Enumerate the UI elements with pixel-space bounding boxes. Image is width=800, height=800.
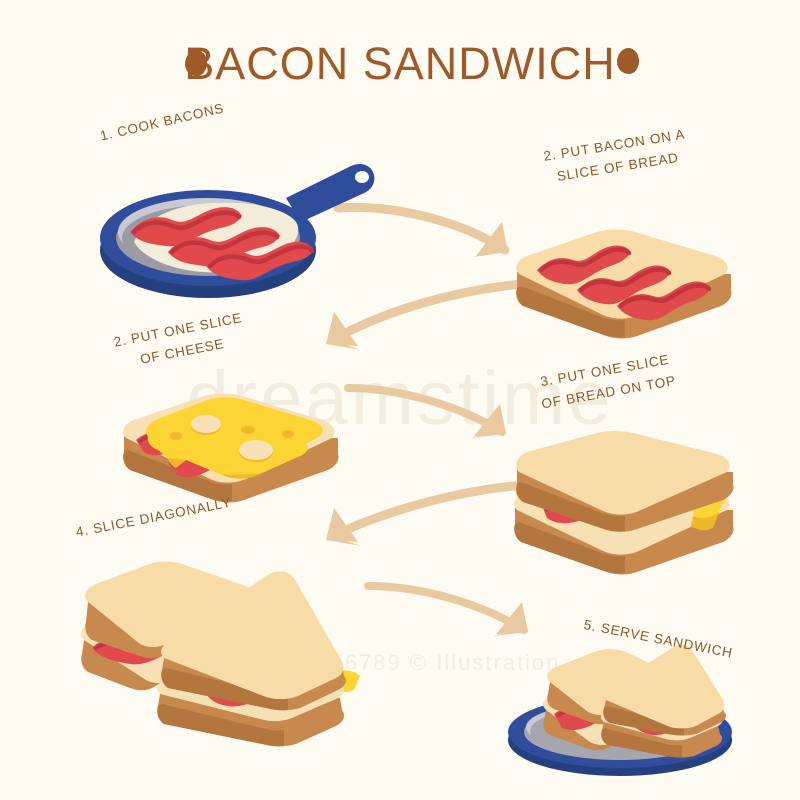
page-title: BACON SANDWICH [0, 34, 800, 94]
step-label-3: 2. PUT ONE SLICE OF CHEESE [112, 307, 248, 375]
infographic-poster: dreamstime ID 123456789 © Illustration B… [0, 0, 800, 800]
illustration-two-sandwich-halves [70, 558, 390, 758]
illustration-bread-with-bacon-and-cheese [110, 386, 350, 511]
step-label-4: 3. PUT ONE SLICE OF BREAD ON TOP [536, 348, 678, 415]
illustration-bread-slice-with-bacon [505, 222, 745, 347]
step-label-2: 2. PUT BACON ON A SLICE OF BREAD [542, 124, 690, 190]
illustration-frying-pan-with-bacon [96, 146, 386, 301]
illustration-closed-sandwich [505, 432, 755, 577]
step-label-1: 1. COOK BACONS [98, 97, 226, 147]
page-title-text: BACON SANDWICH [184, 38, 616, 90]
